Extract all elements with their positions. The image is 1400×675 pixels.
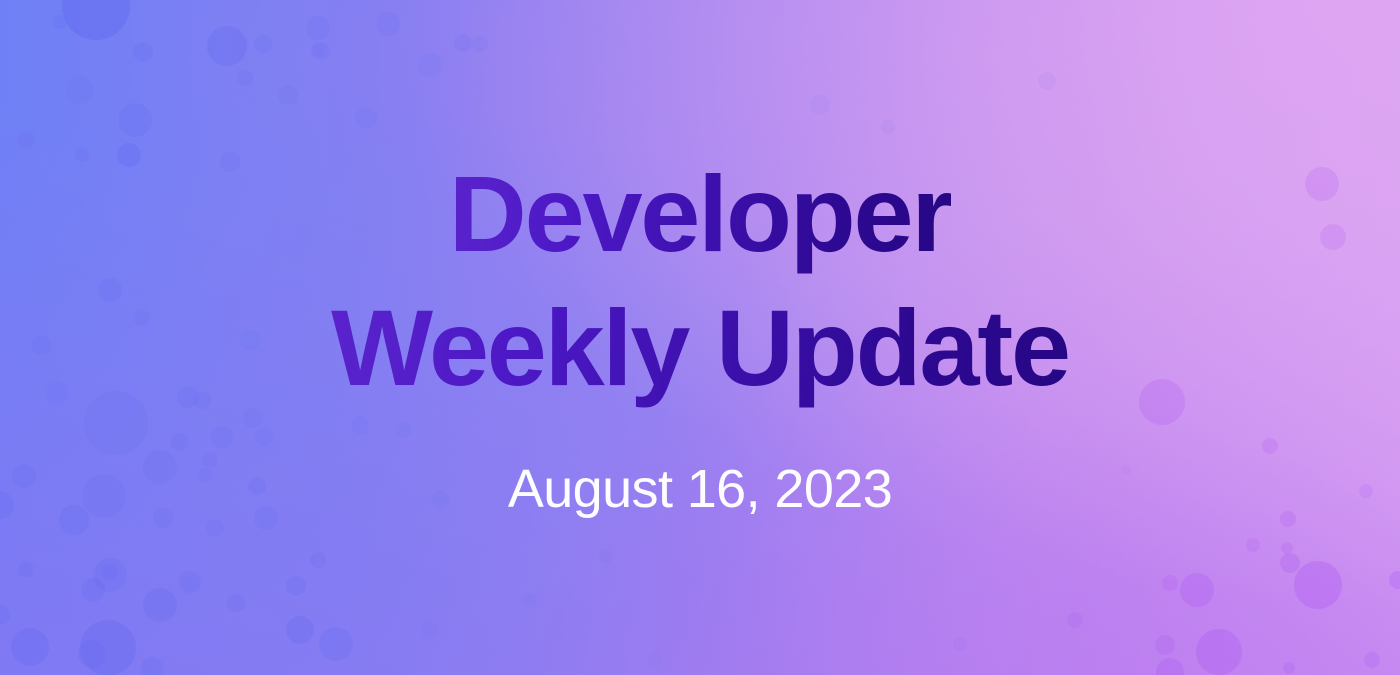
developer-weekly-update-banner: Developer Weekly Update August 16, 2023 bbox=[0, 0, 1400, 675]
banner-content: Developer Weekly Update August 16, 2023 bbox=[0, 0, 1400, 675]
banner-headline-line-2: Weekly Update bbox=[331, 280, 1069, 416]
banner-headline-line-1: Developer bbox=[449, 146, 951, 282]
banner-date-subtitle: August 16, 2023 bbox=[508, 458, 892, 520]
